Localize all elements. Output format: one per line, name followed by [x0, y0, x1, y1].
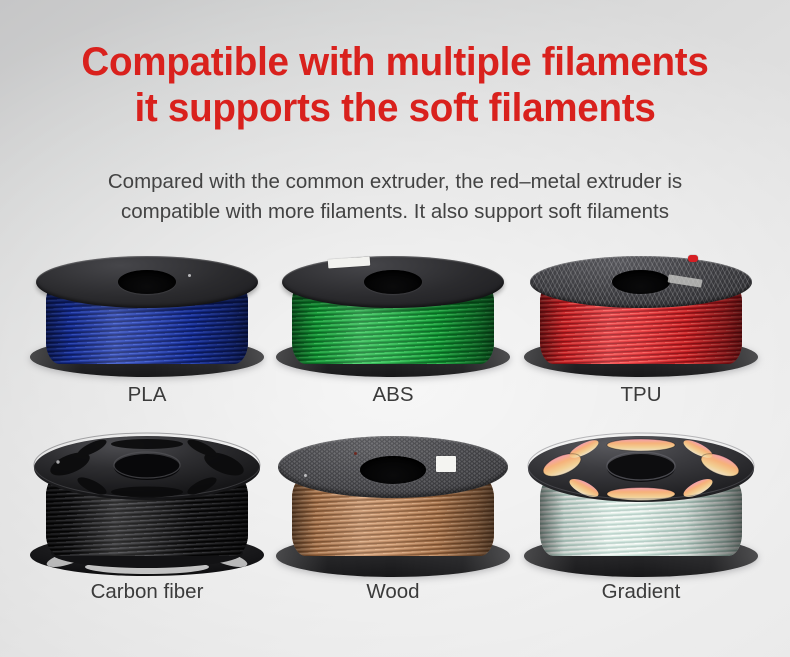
flange-vent-dot	[304, 474, 307, 477]
spool-top-flange-spoked	[32, 432, 262, 494]
filament-card-carbon: Carbon fiber	[22, 432, 272, 627]
filament-card-gradient: Gradient	[516, 432, 766, 627]
filament-card-tpu: TPU	[516, 250, 766, 425]
filament-label-tpu: TPU	[516, 383, 766, 407]
spool-hub-hole	[364, 270, 422, 294]
spool-hub-hole	[360, 456, 426, 484]
spool-hub-hole	[612, 270, 670, 294]
spool-wood	[268, 432, 518, 580]
filament-card-pla: PLA	[22, 250, 272, 425]
spool-abs	[268, 250, 518, 380]
filament-label-carbon: Carbon fiber	[22, 580, 272, 604]
headline-line-2: it supports the soft filaments	[14, 87, 776, 129]
spool-label-sticker	[436, 456, 456, 472]
promo-banner: Compatible with multiple filaments it su…	[0, 0, 790, 657]
spool-top-flange-spoked	[526, 432, 756, 494]
spool-pla	[22, 250, 272, 380]
spool-hub-hole	[118, 270, 176, 294]
spool-carbon	[22, 432, 272, 580]
filament-end-clip	[688, 255, 698, 262]
filament-label-abs: ABS	[268, 383, 518, 407]
subtitle-line-1: Compared with the common extruder, the r…	[0, 167, 790, 197]
flange-vent-dot	[354, 452, 357, 455]
subtitle-line-2: compatible with more filaments. It also …	[0, 197, 790, 227]
headline-line-1: Compatible with multiple filaments	[14, 41, 776, 83]
filament-label-pla: PLA	[22, 383, 272, 407]
filament-label-wood: Wood	[268, 580, 518, 604]
filament-label-gradient: Gradient	[516, 580, 766, 604]
filament-card-abs: ABS	[268, 250, 518, 425]
filament-card-wood: Wood	[268, 432, 518, 627]
spool-tpu	[516, 250, 766, 380]
spool-gradient	[516, 432, 766, 580]
flange-vent-dot	[188, 274, 191, 277]
